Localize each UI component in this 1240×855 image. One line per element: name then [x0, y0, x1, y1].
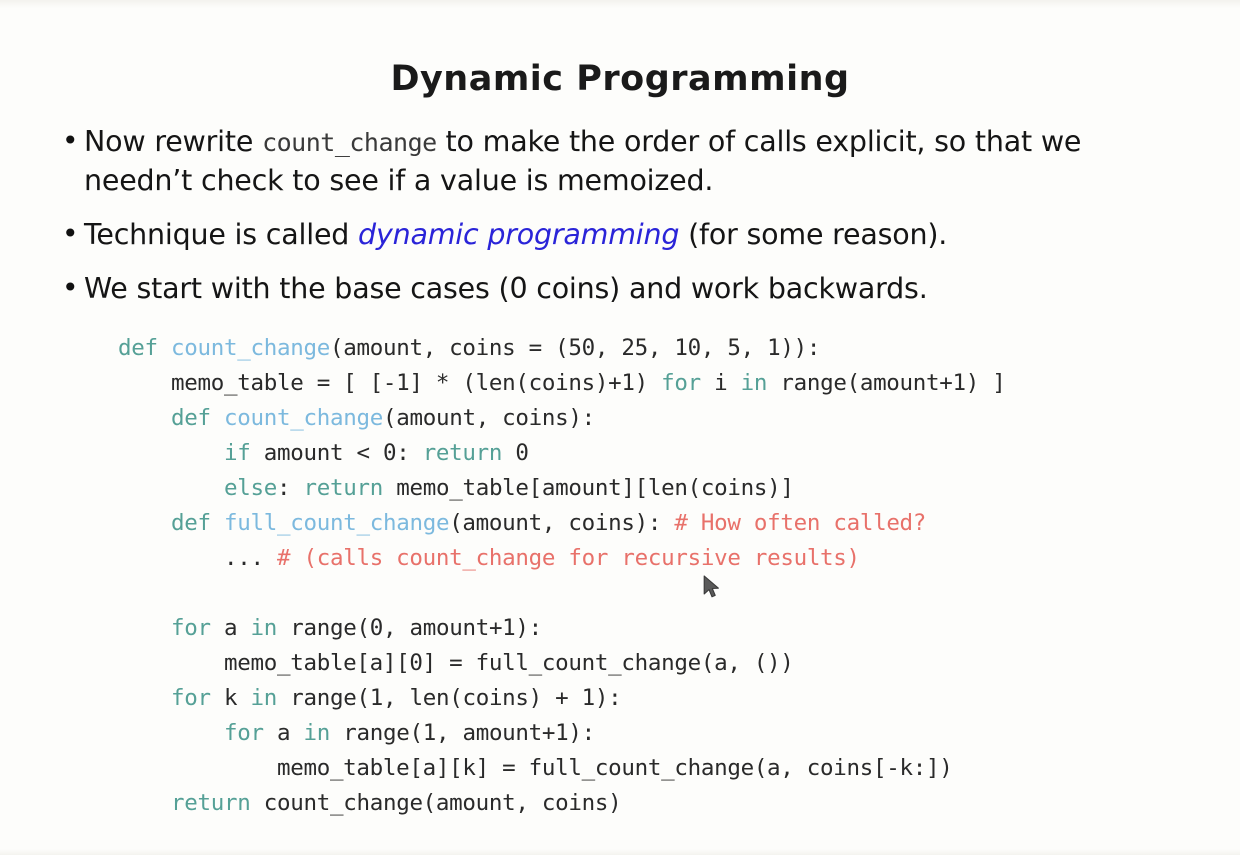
bullet-text: Technique is called dynamic programming … — [84, 216, 1188, 254]
code-line: ... # (calls count_change for recursive … — [118, 541, 1006, 576]
code-text: range(1, amount+1): — [330, 720, 595, 746]
code-function-name: count_change — [171, 335, 330, 361]
code-keyword: return — [303, 475, 382, 501]
code-keyword: for — [171, 685, 211, 711]
code-text: memo_table[a][k] = full_count_change(a, … — [118, 755, 953, 781]
code-text: (amount, coins): — [383, 405, 595, 431]
code-keyword: for — [661, 370, 701, 396]
code-text — [118, 790, 171, 816]
bullet-item: •We start with the base cases (0 coins) … — [58, 270, 1188, 308]
code-text: amount < 0: — [250, 440, 422, 466]
bullet-list: •Now rewrite count_change to make the or… — [58, 123, 1188, 324]
slide-canvas: Dynamic Programming •Now rewrite count_c… — [0, 0, 1240, 855]
code-keyword: def — [171, 405, 211, 431]
bullet-text-span: Technique is called — [84, 218, 358, 251]
code-line: for a in range(0, amount+1): — [118, 611, 1006, 646]
code-text — [118, 615, 171, 641]
code-keyword: for — [171, 615, 211, 641]
bullet-item: •Now rewrite count_change to make the or… — [58, 123, 1188, 200]
code-line: def full_count_change(amount, coins): # … — [118, 506, 1006, 541]
code-line: for k in range(1, len(coins) + 1): — [118, 681, 1006, 716]
code-comment: # How often called? — [674, 510, 926, 536]
code-keyword: for — [224, 720, 264, 746]
code-text: : — [277, 475, 304, 501]
bullet-dot-icon: • — [58, 216, 84, 252]
code-line: for a in range(1, amount+1): — [118, 716, 1006, 751]
code-keyword: in — [303, 720, 330, 746]
code-keyword: in — [741, 370, 768, 396]
code-text: memo_table[amount][len(coins)] — [383, 475, 794, 501]
code-text: ... — [118, 545, 277, 571]
code-text — [118, 405, 171, 431]
code-keyword: return — [171, 790, 250, 816]
code-text: i — [701, 370, 741, 396]
bullet-text-span: We start with the base cases (0 coins) a… — [84, 272, 928, 305]
code-line: def count_change(amount, coins = (50, 25… — [118, 331, 1006, 366]
code-keyword: if — [224, 440, 251, 466]
code-text: memo_table[a][0] = full_count_change(a, … — [118, 650, 794, 676]
bullet-dot-icon: • — [58, 123, 84, 159]
code-text — [211, 510, 224, 536]
slide-bottom-edge — [0, 849, 1240, 855]
bullet-text: We start with the base cases (0 coins) a… — [84, 270, 1188, 308]
code-line: memo_table[a][k] = full_count_change(a, … — [118, 751, 1006, 786]
code-function-name: count_change — [224, 405, 383, 431]
code-comment: # (calls count_change for recursive resu… — [277, 545, 860, 571]
code-line — [118, 576, 1006, 611]
bullet-text-span: Now rewrite — [84, 125, 262, 158]
code-function-name: full_count_change — [224, 510, 449, 536]
code-text — [118, 510, 171, 536]
code-text: 0 — [502, 440, 529, 466]
code-line: def count_change(amount, coins): — [118, 401, 1006, 436]
code-text — [158, 335, 171, 361]
code-block: def count_change(amount, coins = (50, 25… — [118, 331, 1006, 821]
code-line: return count_change(amount, coins) — [118, 786, 1006, 821]
code-text: a — [264, 720, 304, 746]
code-keyword: in — [251, 615, 278, 641]
code-text — [118, 475, 224, 501]
bullet-item: •Technique is called dynamic programming… — [58, 216, 1188, 254]
code-line: else: return memo_table[amount][len(coin… — [118, 471, 1006, 506]
code-text — [118, 685, 171, 711]
bullet-text: Now rewrite count_change to make the ord… — [84, 123, 1188, 200]
code-keyword: def — [118, 335, 158, 361]
code-text: memo_table = [ [-1] * (len(coins)+1) — [118, 370, 661, 396]
code-text: (amount, coins = (50, 25, 10, 5, 1)): — [330, 335, 820, 361]
code-text: (amount, coins): — [449, 510, 674, 536]
code-line: memo_table = [ [-1] * (len(coins)+1) for… — [118, 366, 1006, 401]
code-text: range(1, len(coins) + 1): — [277, 685, 621, 711]
code-line: memo_table[a][0] = full_count_change(a, … — [118, 646, 1006, 681]
inline-code: count_change — [262, 128, 437, 157]
bullet-text-span: (for some reason). — [679, 218, 947, 251]
code-keyword: in — [251, 685, 278, 711]
slide-top-edge — [0, 0, 1240, 8]
code-keyword: def — [171, 510, 211, 536]
code-text: range(0, amount+1): — [277, 615, 542, 641]
code-text — [118, 720, 224, 746]
code-text — [211, 405, 224, 431]
code-text: range(amount+1) ] — [767, 370, 1005, 396]
code-text: count_change(amount, coins) — [250, 790, 621, 816]
emphasis-term: dynamic programming — [358, 218, 679, 251]
code-line: if amount < 0: return 0 — [118, 436, 1006, 471]
code-text: a — [211, 615, 251, 641]
code-text: k — [211, 685, 251, 711]
code-keyword: return — [423, 440, 502, 466]
page-title: Dynamic Programming — [0, 59, 1240, 99]
code-keyword: else — [224, 475, 277, 501]
code-text — [118, 440, 224, 466]
bullet-dot-icon: • — [58, 270, 84, 306]
